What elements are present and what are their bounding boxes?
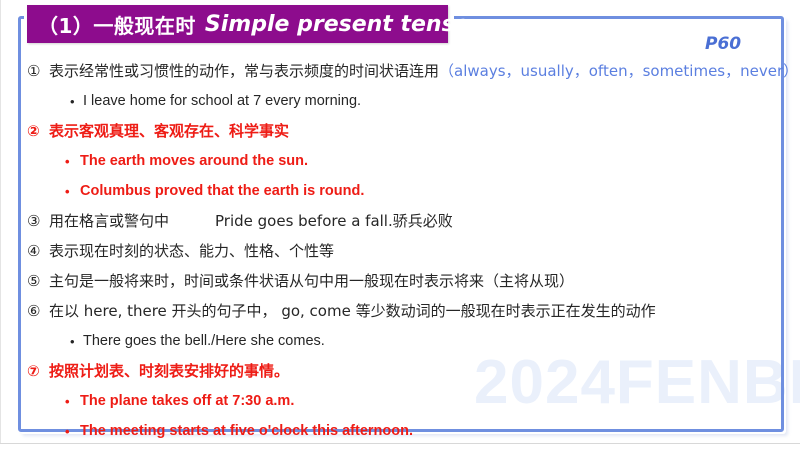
item-text: 表示经常性或习惯性的动作，常与表示频度的时间状语连用 <box>49 64 439 79</box>
item-text: 按照计划表、时刻表安排好的事情。 <box>49 364 289 379</box>
slide-canvas: 2024FENBI （1）一般现在时 Simple present tense … <box>0 0 800 450</box>
item-number: ⑥ <box>27 304 49 319</box>
list-item-bullet: • There goes the bell./Here she comes. <box>27 326 779 356</box>
item-number: ⑦ <box>27 364 49 379</box>
title-english: Simple present tense <box>205 12 470 37</box>
bullet-text: I leave home for school at 7 every morni… <box>83 93 361 109</box>
list-item: ③ 用在格言或警句中 Pride goes before a fall.骄兵必败 <box>27 206 779 236</box>
item-text: 表示现在时刻的状态、能力、性格、个性等 <box>49 244 334 259</box>
bullet-text: Columbus proved that the earth is round. <box>80 183 364 199</box>
bullet-dot-icon: • <box>65 185 80 198</box>
list-item: ④ 表示现在时刻的状态、能力、性格、个性等 <box>27 236 779 266</box>
bullet-text: The meeting starts at five o'clock this … <box>80 423 413 439</box>
bullet-text: There goes the bell./Here she comes. <box>83 333 325 349</box>
page-left-rule <box>0 0 1 444</box>
list-item: ⑦ 按照计划表、时刻表安排好的事情。 <box>27 356 779 386</box>
list-item-bullet: • The plane takes off at 7:30 a.m. <box>27 386 779 416</box>
item-number: ⑤ <box>27 274 49 289</box>
title-chinese: （1）一般现在时 <box>38 10 196 39</box>
item-number: ③ <box>27 214 49 229</box>
bullet-dot-icon: • <box>70 335 83 348</box>
list-item: ⑥ 在以 here, there 开头的句子中， go, come 等少数动词的… <box>27 296 779 326</box>
list-item-bullet: • I leave home for school at 7 every mor… <box>27 86 779 116</box>
item-number: ② <box>27 124 49 139</box>
item-number: ④ <box>27 244 49 259</box>
list-item: ② 表示客观真理、客观存在、科学事实 <box>27 116 779 146</box>
list-item: ⑤ 主句是一般将来时，时间或条件状语从句中用一般现在时表示将来（主将从现） <box>27 266 779 296</box>
bullet-dot-icon: • <box>65 425 80 438</box>
item-note: （always，usually，often，sometimes，never） <box>439 64 798 79</box>
item-text: 用在格言或警句中 <box>49 214 169 229</box>
list-item: ① 表示经常性或习惯性的动作，常与表示频度的时间状语连用 （always，usu… <box>27 56 779 86</box>
list-item-bullet: • Columbus proved that the earth is roun… <box>27 176 779 206</box>
item-number: ① <box>27 64 49 79</box>
item-text: 表示客观真理、客观存在、科学事实 <box>49 124 289 139</box>
content-list: ① 表示经常性或习惯性的动作，常与表示频度的时间状语连用 （always，usu… <box>27 56 779 446</box>
title-banner: （1）一般现在时 Simple present tense <box>27 5 448 43</box>
list-item-bullet: • The meeting starts at five o'clock thi… <box>27 416 779 446</box>
item-text: 主句是一般将来时，时间或条件状语从句中用一般现在时表示将来（主将从现） <box>49 274 574 289</box>
item-note: Pride goes before a fall.骄兵必败 <box>215 214 453 229</box>
page-marker: P60 <box>705 34 741 54</box>
item-text: 在以 here, there 开头的句子中， go, come 等少数动词的一般… <box>49 304 656 319</box>
bullet-text: The earth moves around the sun. <box>80 153 308 169</box>
bullet-dot-icon: • <box>65 155 80 168</box>
bullet-dot-icon: • <box>70 95 83 108</box>
list-item-bullet: • The earth moves around the sun. <box>27 146 779 176</box>
bullet-dot-icon: • <box>65 395 80 408</box>
bullet-text: The plane takes off at 7:30 a.m. <box>80 393 294 409</box>
